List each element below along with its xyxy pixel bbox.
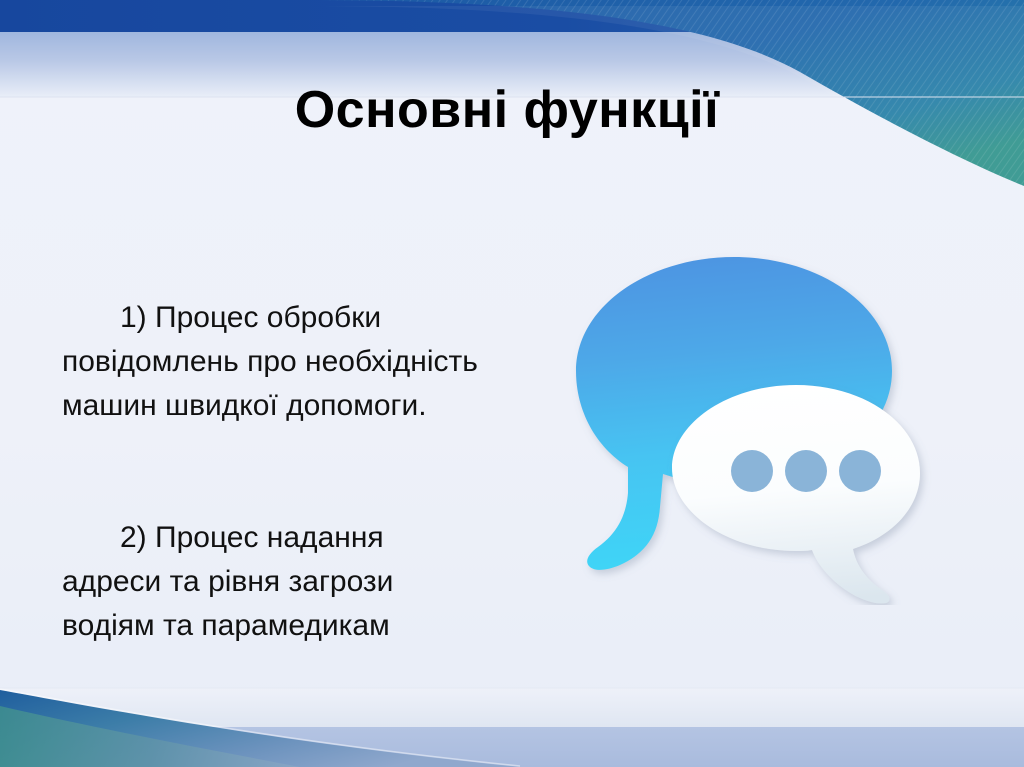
body-paragraph-2: 2) Процес надання адреси та рівня загроз…: [62, 516, 482, 648]
typing-dot-1: [731, 450, 773, 492]
speech-bubbles-illustration: [548, 245, 948, 605]
white-speech-bubble: [672, 385, 920, 604]
typing-dot-2: [785, 450, 827, 492]
body-paragraph-1: 1) Процес обробки повідомлень про необхі…: [62, 296, 482, 428]
typing-dots-group: [731, 450, 881, 492]
page-title: Основні функції: [0, 82, 1024, 138]
slide-body-text: 1) Процес обробки повідомлень про необхі…: [62, 208, 482, 736]
slide-canvas: Основні функції 1) Процес обробки повідо…: [0, 0, 1024, 767]
typing-dot-3: [839, 450, 881, 492]
